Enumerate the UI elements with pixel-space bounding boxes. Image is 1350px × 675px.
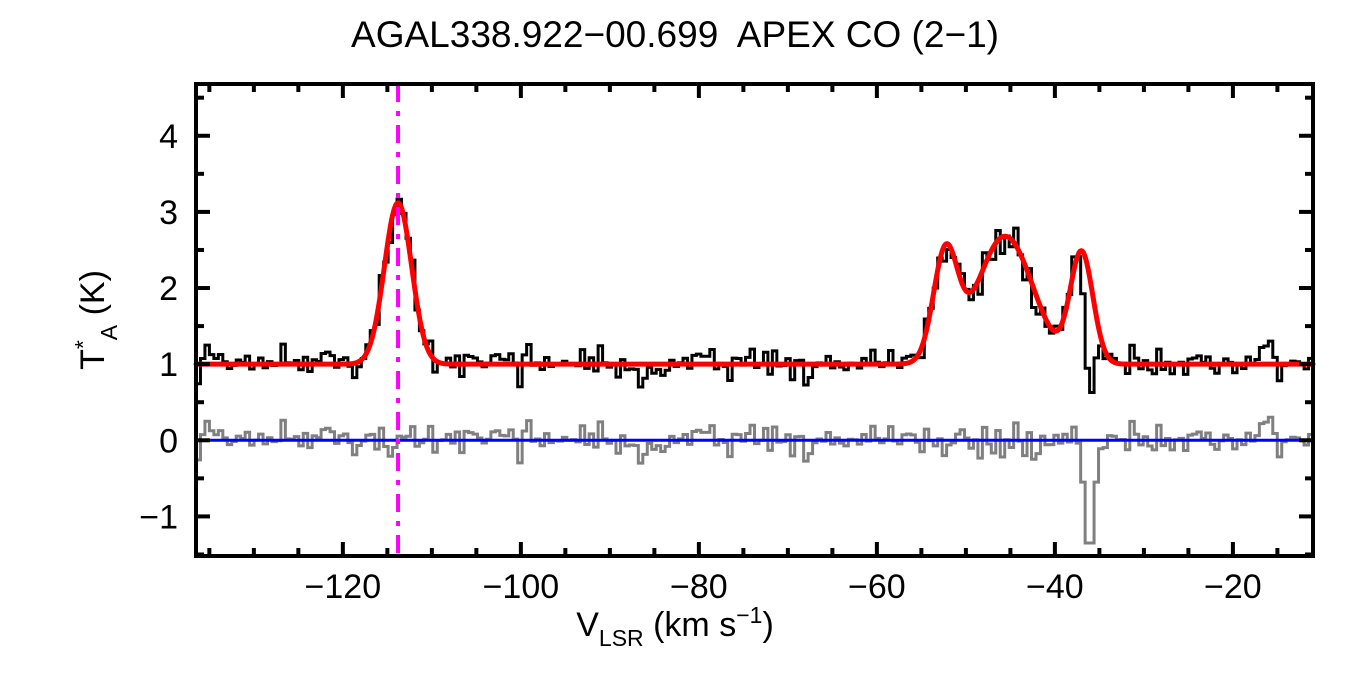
y-tick-label: 1: [159, 346, 178, 384]
x-axis-title: VLSR (km s−1): [576, 602, 774, 651]
residual-trace: [196, 417, 1313, 543]
x-tick-label: −20: [1204, 568, 1262, 606]
fit-trace: [196, 203, 1313, 364]
y-tick-label: 2: [159, 270, 178, 308]
x-tick-label: −40: [1026, 568, 1084, 606]
y-tick-label: 3: [159, 194, 178, 232]
y-tick-label: 0: [159, 422, 178, 460]
residual-series: [196, 417, 1313, 543]
axis-frame: [196, 84, 1313, 556]
svg-text:T*A (K): T*A (K): [70, 270, 122, 370]
spectrum-figure: AGAL338.922−00.699 APEX CO (2−1) −120−10…: [0, 0, 1350, 675]
gaussian-fit-series: [196, 203, 1313, 364]
y-axis-tick-labels: −101234: [139, 118, 178, 537]
x-tick-label: −80: [670, 568, 728, 606]
x-tick-label: −120: [305, 568, 382, 606]
svg-text:VLSR (km s−1): VLSR (km s−1): [576, 602, 774, 651]
x-tick-label: −60: [848, 568, 906, 606]
x-tick-label: −100: [483, 568, 560, 606]
spectrum-plot: −120−100−80−60−40−20 −101234 VLSR (km s−…: [0, 0, 1350, 675]
y-axis-title: T*A (K): [70, 270, 122, 370]
y-tick-label: −1: [139, 498, 178, 536]
plot-frame: [196, 84, 1313, 556]
x-axis-tick-labels: −120−100−80−60−40−20: [305, 568, 1262, 606]
y-tick-label: 4: [159, 118, 178, 156]
